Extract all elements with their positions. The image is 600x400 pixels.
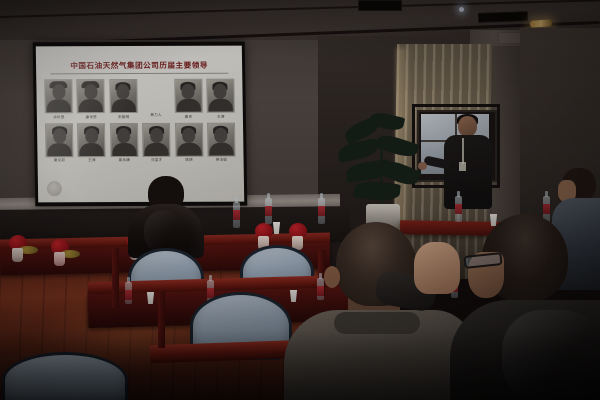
portrait-name: 王涛 bbox=[207, 114, 235, 119]
chair-back bbox=[2, 352, 128, 400]
portrait-row: 秦文彩 王涛 bbox=[45, 122, 236, 163]
portrait-photo-missing bbox=[142, 79, 169, 111]
slide-divider bbox=[50, 73, 228, 75]
head-shape bbox=[181, 84, 194, 99]
cnpc-seal-icon bbox=[47, 181, 62, 196]
torso-shape bbox=[47, 143, 71, 156]
water-bottle bbox=[455, 196, 462, 222]
presenter-body bbox=[444, 135, 492, 209]
portrait-name: 秦文彩 bbox=[46, 158, 74, 163]
seated-attendee-center bbox=[128, 176, 204, 256]
torso-shape bbox=[111, 99, 135, 112]
portrait-row: 余秋里 康世恩 bbox=[44, 79, 235, 120]
presenter-hand bbox=[418, 162, 427, 170]
portrait-photo bbox=[77, 79, 106, 113]
slide-title: 中国石油天然气集团公司历届主要领导 bbox=[36, 60, 242, 72]
bouquet bbox=[12, 232, 34, 262]
plant-leaf bbox=[337, 138, 380, 163]
badge-icon bbox=[459, 162, 466, 171]
portrait-cell: 蒋洁敏 bbox=[207, 122, 236, 163]
portrait-photo bbox=[206, 79, 235, 113]
portrait-photo bbox=[44, 79, 73, 113]
water-bottle bbox=[125, 282, 132, 304]
portrait-name: 陈耕 bbox=[175, 158, 203, 163]
head-shape bbox=[150, 127, 163, 142]
vase bbox=[54, 252, 65, 266]
portrait-name: 焦力人 bbox=[142, 112, 170, 117]
head-shape bbox=[85, 128, 98, 143]
portrait-photo bbox=[174, 79, 203, 113]
ceiling-vent-icon bbox=[478, 11, 528, 23]
vase bbox=[12, 248, 23, 262]
portrait-name: 王涛 bbox=[78, 158, 106, 163]
portrait-cell: 唐克 bbox=[174, 79, 203, 120]
portrait-name: 唐克 bbox=[174, 114, 202, 119]
jacket-sheen bbox=[502, 310, 600, 400]
portrait-photo bbox=[110, 123, 139, 157]
portrait-name: 康世恩 bbox=[77, 115, 105, 120]
portrait-photo bbox=[109, 79, 138, 113]
portrait-cell: 康世恩 bbox=[77, 79, 106, 120]
table-leg bbox=[158, 292, 165, 348]
torso-shape bbox=[177, 142, 201, 155]
portrait-cell: 周永康 bbox=[110, 123, 139, 164]
head-shape bbox=[84, 84, 97, 99]
head-shape bbox=[52, 84, 65, 99]
torso-shape bbox=[209, 142, 233, 155]
ceiling-vent-icon bbox=[358, 0, 402, 11]
torso-shape bbox=[176, 99, 200, 112]
jacket-collar bbox=[334, 312, 420, 334]
water-bottle bbox=[318, 198, 325, 224]
water-bottle bbox=[233, 202, 240, 228]
torso-shape bbox=[47, 99, 71, 112]
portrait-cell: 秦文彩 bbox=[45, 123, 74, 164]
head-shape bbox=[117, 128, 130, 143]
head-shape bbox=[117, 84, 130, 99]
plant-leaf bbox=[353, 180, 401, 203]
torso-shape bbox=[144, 142, 168, 155]
attendee-ear bbox=[324, 266, 340, 288]
portrait-name: 余秋里 bbox=[45, 115, 73, 120]
torso-shape bbox=[80, 143, 104, 156]
portrait-cell: 王涛 bbox=[77, 123, 106, 164]
portrait-cell: 陈耕 bbox=[175, 122, 204, 163]
portrait-photo bbox=[45, 123, 74, 157]
portrait-cell-empty: 焦力人 bbox=[141, 79, 170, 120]
bouquet bbox=[54, 236, 76, 266]
potted-plant bbox=[336, 108, 432, 230]
conference-room-photo: 中国石油天然气集团公司历届主要领导 余秋里 bbox=[0, 0, 600, 400]
torso-shape bbox=[79, 99, 103, 112]
ceiling-downlight-icon bbox=[459, 7, 464, 12]
portrait-photo bbox=[207, 122, 236, 156]
portrait-photo bbox=[77, 123, 106, 157]
presenter-head bbox=[458, 116, 477, 137]
head-shape bbox=[53, 128, 66, 143]
portrait-name: 宋振明 bbox=[110, 115, 138, 120]
attendee-hand bbox=[414, 242, 460, 294]
portrait-name: 蒋洁敏 bbox=[207, 158, 235, 163]
head-shape bbox=[182, 127, 195, 142]
chair bbox=[2, 352, 122, 400]
presenter bbox=[440, 116, 502, 224]
portrait-cell: 宋振明 bbox=[109, 79, 138, 120]
head-shape bbox=[214, 84, 227, 99]
torso-shape bbox=[209, 99, 233, 112]
portrait-cell: 余秋里 bbox=[44, 79, 73, 120]
portrait-grid: 余秋里 康世恩 bbox=[44, 79, 235, 167]
lanyard-icon bbox=[462, 138, 464, 164]
portrait-cell: 王涛 bbox=[206, 79, 235, 120]
table-leg bbox=[112, 248, 119, 308]
portrait-name: 马富才 bbox=[143, 158, 171, 163]
portrait-name: 周永康 bbox=[110, 158, 138, 163]
portrait-cell: 马富才 bbox=[142, 122, 171, 163]
water-bottle bbox=[265, 198, 272, 224]
torso-shape bbox=[112, 143, 136, 156]
foreground-attendee-right bbox=[462, 214, 600, 400]
portrait-photo bbox=[142, 122, 171, 156]
portrait-photo bbox=[175, 122, 204, 156]
